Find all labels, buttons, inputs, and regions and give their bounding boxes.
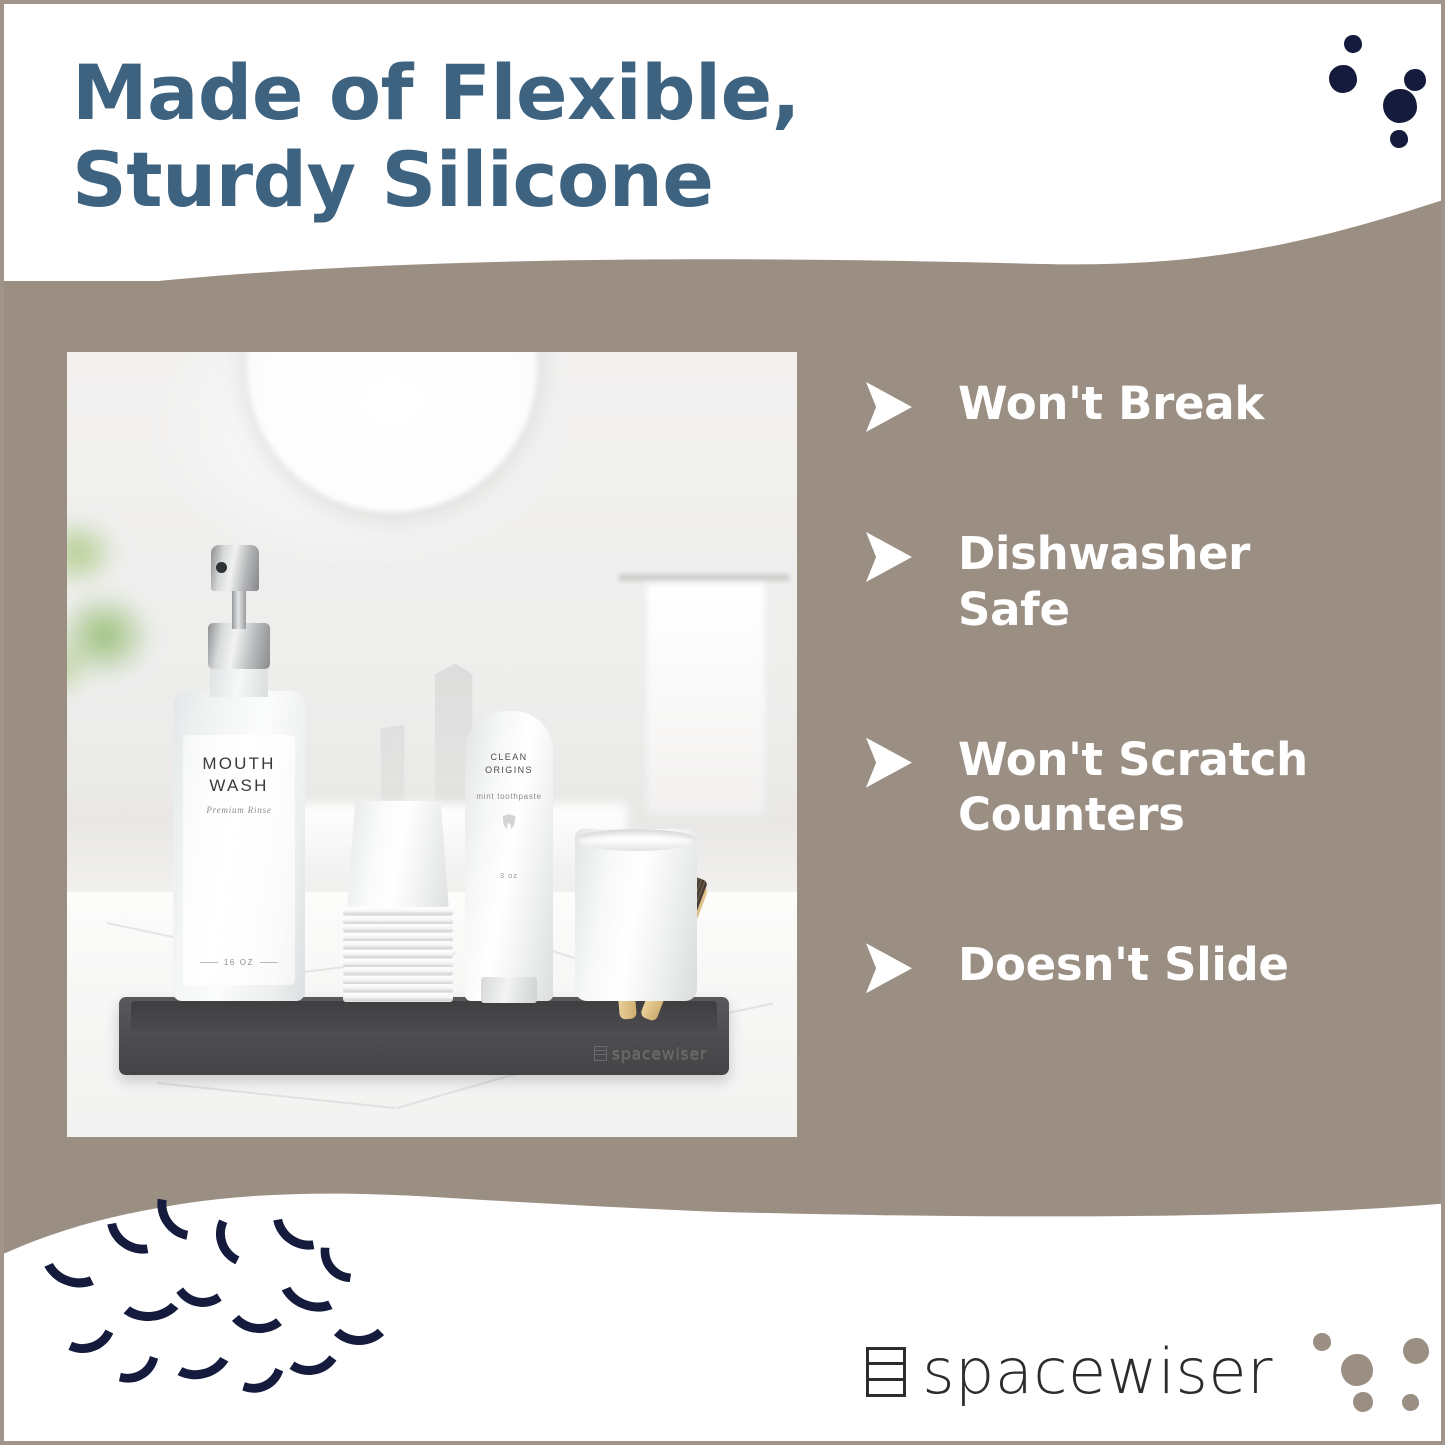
feature-item: Won't Break	[866, 376, 1386, 432]
pump-head	[211, 545, 259, 591]
feature-label: Won't Break	[958, 376, 1264, 432]
feature-item: Dishwasher Safe	[866, 526, 1386, 638]
decorative-dot	[1344, 35, 1362, 53]
feature-label: Dishwasher Safe	[958, 526, 1250, 638]
bottle-neck	[210, 665, 268, 697]
cup-rim-ring	[343, 950, 453, 959]
pump-nozzle	[216, 562, 227, 573]
cup-rim-ring	[343, 924, 453, 933]
feature-item: Doesn't Slide	[866, 937, 1386, 993]
cup-rim-ring	[343, 993, 453, 1002]
toothpaste-size: 3 oz	[500, 871, 518, 880]
decorative-dot	[1353, 1392, 1373, 1412]
decorative-dot	[1390, 130, 1408, 148]
toothpaste-label: CLEAN ORIGINS mint toothpaste 3 oz	[465, 751, 553, 829]
toothpaste-tube: CLEAN ORIGINS mint toothpaste 3 oz	[465, 711, 553, 1001]
decorative-dot	[1402, 1394, 1419, 1411]
decorative-dot	[1329, 65, 1357, 93]
tube-cap	[481, 977, 537, 1003]
silicone-tray: spacewiser	[119, 997, 729, 1075]
cup-rim-ring	[343, 967, 453, 976]
toothpaste-brand: CLEAN ORIGINS	[465, 751, 553, 777]
brush-stroke-cluster	[28, 1167, 358, 1377]
feature-item: Won't Scratch Counters	[866, 732, 1386, 844]
mouthwash-label: MOUTH WASH Premium Rinse 16 OZ	[183, 735, 295, 985]
top-cup	[347, 801, 449, 911]
feature-list: Won't BreakDishwasher SafeWon't Scratch …	[866, 376, 1386, 993]
brush-stroke	[324, 1279, 394, 1345]
arrow-right-icon	[866, 532, 912, 582]
arrow-right-icon	[866, 943, 912, 993]
marble-vein	[157, 1082, 396, 1109]
cup-rim	[575, 829, 697, 851]
product-photo: MOUTH WASH Premium Rinse 16 OZ CLEAN ORI…	[67, 352, 797, 1137]
cup-rim-ring	[343, 907, 453, 916]
tray-embossed-logo: spacewiser	[594, 1044, 707, 1063]
infographic-canvas: Made of Flexible, Sturdy Silicone	[0, 0, 1445, 1445]
toothbrush-holder-cup	[575, 829, 697, 1001]
stacked-paper-cups	[343, 801, 453, 1001]
tooth-icon	[503, 814, 516, 829]
feature-label: Won't Scratch Counters	[958, 732, 1308, 844]
brand-name: spacewiser	[922, 1341, 1273, 1403]
green-plant	[67, 502, 181, 732]
feature-label: Doesn't Slide	[958, 937, 1289, 993]
mouthwash-subtitle: Premium Rinse	[206, 805, 271, 815]
decorative-dot	[1404, 69, 1426, 91]
mouthwash-size: 16 OZ	[200, 958, 278, 967]
decorative-dot	[1341, 1354, 1373, 1386]
page-title: Made of Flexible, Sturdy Silicone	[72, 50, 892, 223]
pump-collar	[208, 623, 270, 669]
shelf-ladder-icon	[866, 1347, 906, 1397]
tray-logo-text: spacewiser	[612, 1044, 707, 1063]
toothpaste-description: mint toothpaste	[476, 791, 541, 803]
decorative-dot	[1403, 1338, 1429, 1364]
towel-bar	[619, 574, 789, 581]
shelf-ladder-icon	[594, 1046, 607, 1061]
white-towel	[647, 584, 765, 814]
arrow-right-icon	[866, 382, 912, 432]
decorative-dot	[1313, 1333, 1331, 1351]
arrow-right-icon	[866, 738, 912, 788]
mouthwash-bottle: MOUTH WASH Premium Rinse 16 OZ	[173, 691, 305, 1001]
brand-logo: spacewiser	[866, 1341, 1273, 1403]
mouthwash-title: MOUTH WASH	[183, 753, 295, 798]
decorative-dot	[1383, 89, 1417, 123]
